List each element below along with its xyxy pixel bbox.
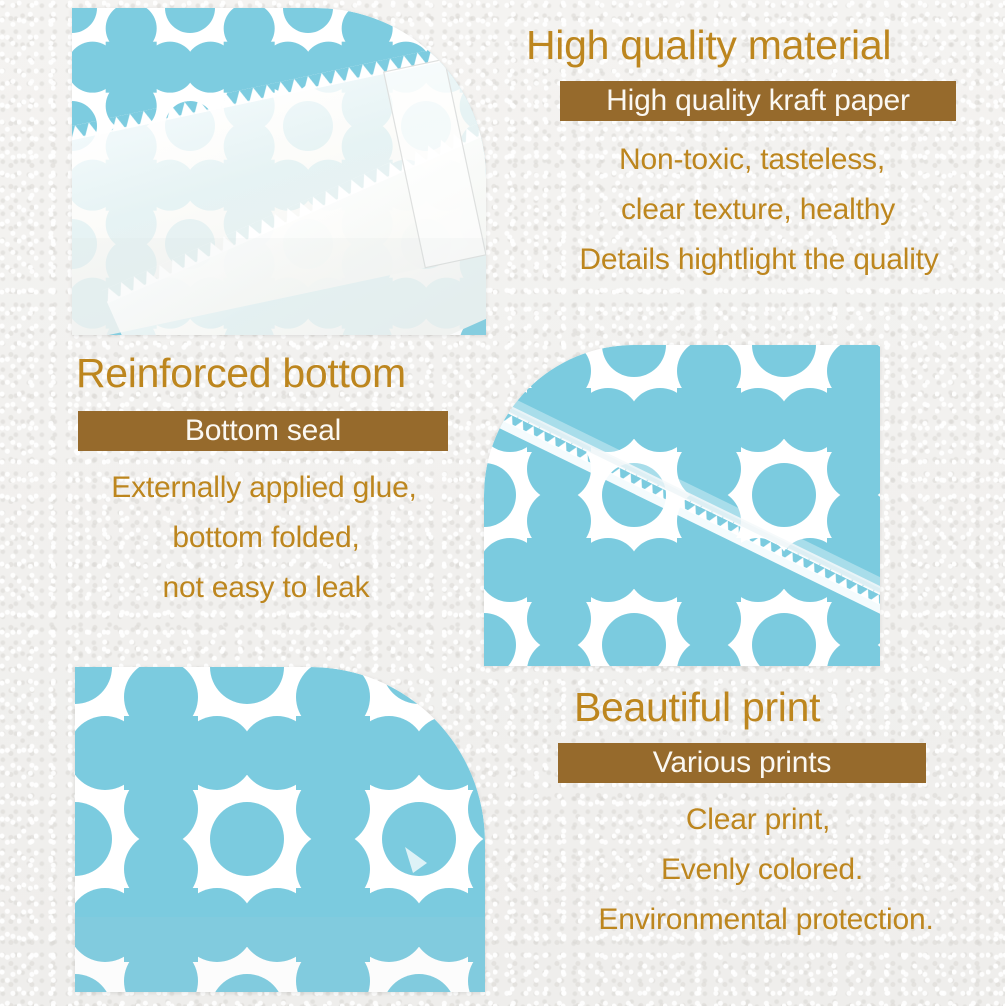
body-line: Evenly colored. — [538, 845, 986, 895]
section-body-high-quality-material: Non-toxic, tasteless, clear texture, hea… — [524, 135, 994, 285]
body-line: Environmental protection. — [546, 895, 986, 945]
body-line: not easy to leak — [66, 563, 466, 613]
section-banner-bottom-seal: Bottom seal — [78, 411, 448, 451]
body-line: Details hightlight the quality — [524, 235, 994, 285]
section-beautiful-print: Beautiful print Various prints Clear pri… — [546, 686, 986, 945]
section-heading-reinforced-bottom: Reinforced bottom — [66, 352, 466, 395]
section-body-reinforced-bottom: Externally applied glue, bottom folded, … — [66, 463, 466, 613]
body-line: Non-toxic, tasteless, — [510, 135, 994, 185]
product-photo-middle-right — [484, 345, 880, 666]
photo-top-left-artwork — [72, 8, 486, 335]
body-line: Externally applied glue, — [62, 463, 466, 513]
section-reinforced-bottom: Reinforced bottom Bottom seal Externally… — [66, 352, 466, 613]
section-high-quality-material: High quality material High quality kraft… — [524, 24, 994, 285]
infographic-page: High quality material High quality kraft… — [0, 0, 1005, 1006]
body-line: Clear print, — [530, 795, 986, 845]
photo-bottom-left-artwork — [75, 667, 485, 992]
product-photo-top-left — [72, 8, 486, 335]
section-body-beautiful-print: Clear print, Evenly colored. Environment… — [546, 795, 986, 945]
body-line: bottom folded, — [66, 513, 466, 563]
product-photo-bottom-left — [75, 667, 485, 992]
section-heading-high-quality-material: High quality material — [524, 24, 994, 67]
photo-middle-right-artwork — [484, 345, 880, 666]
section-heading-beautiful-print: Beautiful print — [546, 686, 986, 729]
section-banner-high-quality-kraft-paper: High quality kraft paper — [560, 81, 956, 121]
section-banner-various-prints: Various prints — [558, 743, 926, 783]
body-line: clear texture, healthy — [522, 185, 994, 235]
